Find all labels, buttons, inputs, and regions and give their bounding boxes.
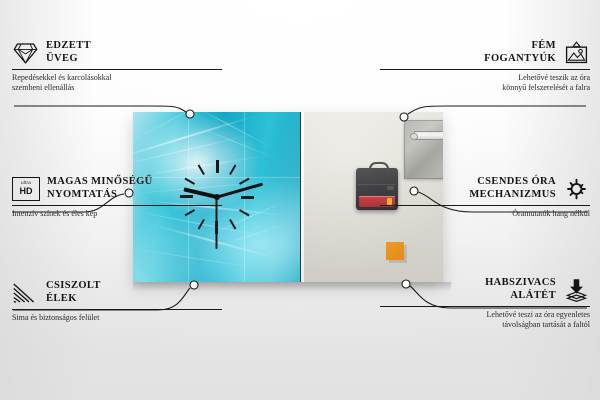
callout-rule xyxy=(12,69,222,70)
callout-desc-line2: távolságban tartását a faltól xyxy=(502,320,590,329)
callout-head: CSISZOLT ÉLEK xyxy=(12,280,222,305)
callout-head: EDZETT ÜVEG xyxy=(12,40,222,65)
callout-desc: Repedésekkel és karcolásokkal szembeni e… xyxy=(12,73,222,93)
callout-desc-line1: Repedésekkel és karcolásokkal xyxy=(12,73,112,82)
infographic-canvas: EDZETT ÜVEG Repedésekkel és karcolásokka… xyxy=(0,0,600,400)
callout-title-line2: FOGANTYÚK xyxy=(484,53,556,64)
callout-rule xyxy=(12,205,222,206)
callout-title: CSISZOLT ÉLEK xyxy=(46,280,101,305)
callout-title-line1: MAGAS MINŐSÉGŰ xyxy=(47,176,153,187)
hanger-keyhole-slot xyxy=(414,131,443,140)
callout-head: ultra HD MAGAS MINŐSÉGŰ NYOMTATÁS xyxy=(12,176,222,201)
callout-title-line2: ALÁTÉT xyxy=(510,290,556,301)
callout-metal-handles: FÉM FOGANTYÚK Lehetővé teszik az óra kön… xyxy=(380,40,590,93)
callout-desc: Intenzív színek és éles kép xyxy=(12,209,222,219)
diamond-icon xyxy=(12,41,39,65)
callout-title-line2: MECHANIZMUS xyxy=(469,189,556,200)
callout-title: HABSZIVACS ALÁTÉT xyxy=(485,277,556,302)
callout-desc-line2: könnyű felszerelését a falra xyxy=(502,83,590,92)
callout-desc-line1: Sima és biztonságos felület xyxy=(12,313,99,322)
callout-desc-line1: Lehetővé teszik az óra xyxy=(518,73,590,82)
callout-title: FÉM FOGANTYÚK xyxy=(484,40,556,65)
foam-spacer-pad xyxy=(386,242,404,260)
callout-title: CSENDES ÓRA MECHANIZMUS xyxy=(469,176,556,201)
callout-rule xyxy=(12,309,222,310)
movement-hanger-loop xyxy=(369,162,389,173)
callout-desc-line2: szembeni ellenállás xyxy=(12,83,74,92)
callout-head: CSENDES ÓRA MECHANIZMUS xyxy=(380,176,590,201)
callout-quiet-mechanism: CSENDES ÓRA MECHANIZMUS Óramutatók hang … xyxy=(380,176,590,219)
callout-foam-pad: HABSZIVACS ALÁTÉT Lehetővé teszi az óra … xyxy=(380,277,590,330)
foam-layers-icon xyxy=(563,278,590,302)
callout-title: MAGAS MINŐSÉGŰ NYOMTATÁS xyxy=(47,176,153,201)
ultra-hd-icon: ultra HD xyxy=(12,177,40,201)
callout-title-line1: CSISZOLT xyxy=(46,280,101,291)
polished-edges-icon xyxy=(12,281,39,305)
callout-desc-line1: Óramutatók hang nélkül xyxy=(512,209,590,218)
callout-rule xyxy=(380,69,590,70)
callout-title-line1: EDZETT xyxy=(46,40,91,51)
callout-desc: Sima és biztonságos felület xyxy=(12,313,222,323)
callout-rule xyxy=(380,306,590,307)
callout-desc-line1: Lehetővé teszi az óra egyenletes xyxy=(487,310,591,319)
callout-title-line2: ÜVEG xyxy=(46,53,78,64)
picture-hanger-icon xyxy=(563,41,590,65)
callout-polished-edges: CSISZOLT ÉLEK Sima és biztonságos felüle… xyxy=(12,280,222,323)
callout-title-line2: ÉLEK xyxy=(46,293,77,304)
callout-desc: Lehetővé teszi az óra egyenletes távolsá… xyxy=(380,310,590,330)
callout-title-line1: HABSZIVACS xyxy=(485,277,556,288)
callout-title-line1: FÉM xyxy=(531,40,556,51)
callout-title-line2: NYOMTATÁS xyxy=(47,189,117,200)
callout-desc: Óramutatók hang nélkül xyxy=(380,209,590,219)
callout-desc-line1: Intenzív színek és éles kép xyxy=(12,209,97,218)
gear-icon xyxy=(563,177,590,201)
callout-desc: Lehetővé teszik az óra könnyű felszerelé… xyxy=(380,73,590,93)
callout-head: HABSZIVACS ALÁTÉT xyxy=(380,277,590,302)
callout-high-quality-print: ultra HD MAGAS MINŐSÉGŰ NYOMTATÁS Intenz… xyxy=(12,176,222,219)
callout-tempered-glass: EDZETT ÜVEG Repedésekkel és karcolásokka… xyxy=(12,40,222,93)
callout-head: FÉM FOGANTYÚK xyxy=(380,40,590,65)
callout-title-line1: CSENDES ÓRA xyxy=(477,176,556,187)
ultra-hd-big-label: HD xyxy=(20,187,33,196)
callout-rule xyxy=(380,205,590,206)
polished-glass-edge xyxy=(300,112,301,282)
metal-hanger-plate xyxy=(404,120,443,179)
callout-title: EDZETT ÜVEG xyxy=(46,40,91,65)
